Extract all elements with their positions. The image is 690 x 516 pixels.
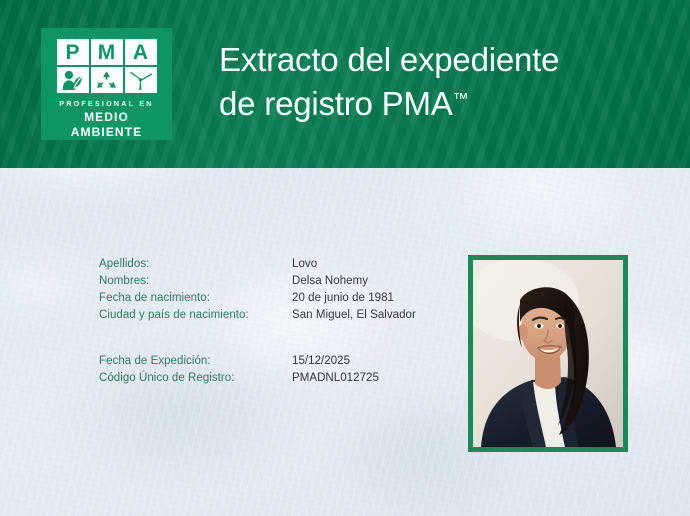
personal-info-group: Apellidos: Lovo Nombres: Delsa Nohemy Fe… (99, 256, 449, 324)
field-label-fecha-nacimiento: Fecha de nacimiento: (99, 290, 292, 307)
certificate-page: P M A (0, 0, 690, 516)
logo-letter-m: M (91, 39, 123, 65)
field-row: Nombres: Delsa Nohemy (99, 273, 449, 290)
field-value-apellidos: Lovo (292, 256, 317, 273)
field-label-apellidos: Apellidos: (99, 256, 292, 273)
trademark-symbol: ™ (453, 91, 469, 108)
logo-letter-p: P (57, 39, 89, 65)
logo-tagline-bottom: MEDIO AMBIENTE (57, 110, 157, 140)
page-title-line-2: de registro PMA™ (219, 80, 659, 124)
portrait-photo-frame (468, 255, 628, 452)
field-row: Apellidos: Lovo (99, 256, 449, 273)
field-row: Código Único de Registro: PMADNL012725 (99, 370, 449, 387)
field-label-nombres: Nombres: (99, 273, 292, 290)
field-group-divider (99, 324, 449, 353)
field-row: Ciudad y país de nacimiento: San Miguel,… (99, 307, 449, 324)
recycle-icon (91, 67, 123, 93)
pma-logo: P M A (41, 28, 172, 140)
page-title-line-2-text: de registro PMA (219, 85, 453, 122)
field-value-fecha-nacimiento: 20 de junio de 1981 (292, 290, 394, 307)
field-label-ciudad-pais: Ciudad y país de nacimiento: (99, 307, 292, 324)
logo-letter-a: A (125, 39, 157, 65)
field-label-codigo-registro: Código Único de Registro: (99, 370, 292, 387)
logo-grid: P M A (57, 39, 157, 93)
field-value-ciudad-pais: San Miguel, El Salvador (292, 307, 416, 324)
field-label-fecha-expedicion: Fecha de Expedición: (99, 353, 292, 370)
field-row: Fecha de Expedición: 15/12/2025 (99, 353, 449, 370)
page-title: Extracto del expediente de registro PMA™ (219, 40, 659, 124)
field-value-fecha-expedicion: 15/12/2025 (292, 353, 350, 370)
logo-tagline: PROFESIONAL EN MEDIO AMBIENTE (57, 101, 157, 140)
field-value-nombres: Delsa Nohemy (292, 273, 368, 290)
field-row: Fecha de nacimiento: 20 de junio de 1981 (99, 290, 449, 307)
registry-info-group: Fecha de Expedición: 15/12/2025 Código Ú… (99, 353, 449, 387)
portrait-photo (473, 260, 623, 447)
field-value-codigo-registro: PMADNL012725 (292, 370, 379, 387)
person-leaf-icon (57, 67, 89, 93)
page-title-line-1: Extracto del expediente (219, 40, 659, 80)
wind-turbine-icon (125, 67, 157, 93)
record-fields: Apellidos: Lovo Nombres: Delsa Nohemy Fe… (99, 256, 449, 387)
logo-tagline-top: PROFESIONAL EN (57, 101, 157, 109)
